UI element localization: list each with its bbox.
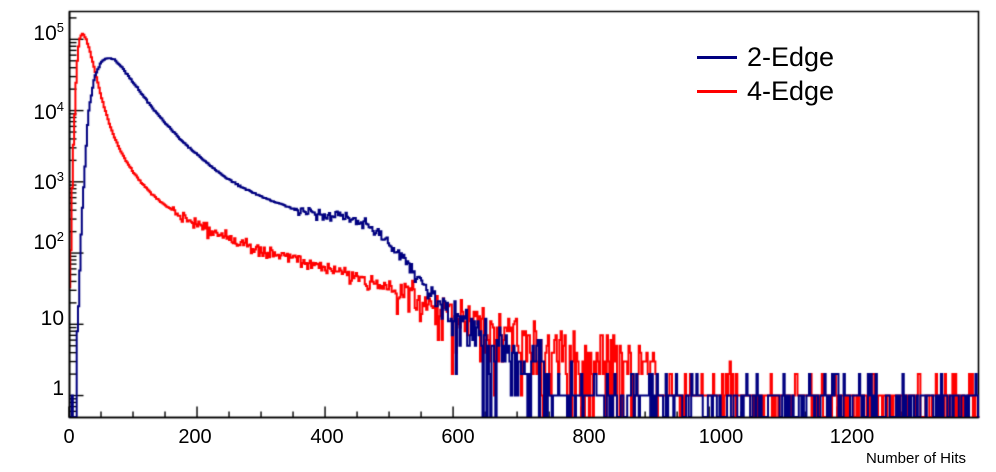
x-tick-label-600: 600 (438, 426, 478, 449)
x-axis-title: Number of Hits (0, 450, 966, 467)
figure-root: 105 104 103 102 10 1 0 200 400 600 800 1… (0, 0, 996, 472)
x-tick-label-1200: 1200 (827, 426, 877, 449)
legend-swatch-4-edge-line-icon (697, 90, 737, 93)
y-tick-label-1e5: 105 (20, 21, 64, 44)
y-tick-label-1e3: 103 (20, 170, 64, 193)
legend-swatch-2-edge-line-icon (697, 56, 737, 59)
x-tick-label-0: 0 (49, 426, 89, 449)
legend-label-4-edge: 4-Edge (747, 76, 834, 107)
x-tick-label-400: 400 (307, 426, 347, 449)
x-tick-label-800: 800 (569, 426, 609, 449)
y-tick-exponent: 2 (57, 229, 64, 244)
y-tick-exponent: 4 (57, 99, 64, 114)
y-tick-label-1: 1 (20, 378, 64, 399)
x-tick-label-1000: 1000 (696, 426, 746, 449)
x-tick-label-200: 200 (175, 426, 215, 449)
legend: 2-Edge 4-Edge (697, 40, 834, 108)
y-tick-exponent: 3 (57, 169, 64, 184)
legend-label-2-edge: 2-Edge (747, 42, 834, 73)
legend-entry-2-edge: 2-Edge (697, 40, 834, 74)
y-tick-label-1e4: 104 (20, 100, 64, 123)
y-tick-exponent: 5 (57, 20, 64, 35)
y-tick-base: 10 (33, 171, 56, 194)
y-tick-base: 10 (33, 101, 56, 124)
y-tick-label-10: 10 (20, 308, 64, 329)
legend-entry-4-edge: 4-Edge (697, 74, 834, 108)
histogram-plot-canvas (0, 0, 996, 472)
y-tick-base: 10 (33, 22, 56, 45)
y-tick-label-1e2: 102 (20, 230, 64, 253)
y-tick-base: 10 (33, 231, 56, 254)
